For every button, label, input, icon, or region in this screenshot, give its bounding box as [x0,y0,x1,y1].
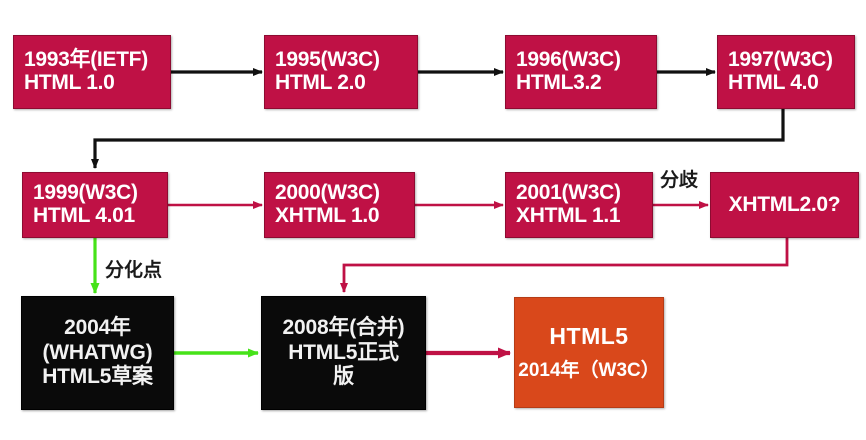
node-html-4-0[interactable]: 1997(W3C) HTML 4.0 [717,35,855,109]
node-html5-2014-subtitle: 2014年（W3C） [518,361,660,382]
label-fenqi: 分歧 [660,165,698,192]
arrow-html40-to-html401 [95,109,783,168]
node-html-4-0-line2: HTML 4.0 [728,72,819,95]
node-html-4-0-line1: 1997(W3C) [728,49,833,72]
node-xhtml-1-0-line2: XHTML 1.0 [275,205,379,228]
arrow-xhtml20-to-merge2008 [344,238,787,292]
node-xhtml-2-0[interactable]: XHTML2.0? [710,172,859,238]
node-whatwg-2004-line1: 2004年 [64,316,131,341]
node-html-2-0[interactable]: 1995(W3C) HTML 2.0 [264,35,418,109]
node-html-3-2-line1: 1996(W3C) [516,49,621,72]
node-html-1-0-line2: HTML 1.0 [24,72,115,95]
node-xhtml-1-1-line1: 2001(W3C) [516,182,621,205]
node-whatwg-2004[interactable]: 2004年 (WHATWG) HTML5草案 [21,296,174,410]
node-xhtml-1-1-line2: XHTML 1.1 [516,205,620,228]
node-xhtml-1-1[interactable]: 2001(W3C) XHTML 1.1 [505,172,653,238]
node-html5-merge-2008-line3: 版 [333,365,354,390]
node-html-1-0-line1: 1993年(IETF) [24,49,148,72]
node-html5-merge-2008-line2: HTML5正式 [288,341,399,366]
label-fenhuadian: 分化点 [105,255,162,282]
node-html-4-01-line1: 1999(W3C) [33,182,138,205]
node-html-3-2-line2: HTML3.2 [516,72,601,95]
node-xhtml-1-0[interactable]: 2000(W3C) XHTML 1.0 [264,172,415,238]
node-html5-merge-2008-line1: 2008年(合并) [283,316,405,341]
node-html-4-01-line2: HTML 4.01 [33,205,135,228]
node-html-3-2[interactable]: 1996(W3C) HTML3.2 [505,35,657,109]
node-html-2-0-line1: 1995(W3C) [275,49,380,72]
flowchart-canvas: 1993年(IETF) HTML 1.0 1995(W3C) HTML 2.0 … [0,0,866,440]
node-xhtml-1-0-line1: 2000(W3C) [275,182,380,205]
node-xhtml-2-0-line1: XHTML2.0? [729,194,841,217]
node-html5-merge-2008[interactable]: 2008年(合并) HTML5正式 版 [261,296,426,410]
node-whatwg-2004-line3: HTML5草案 [42,365,153,390]
node-html-4-01[interactable]: 1999(W3C) HTML 4.01 [22,172,168,238]
node-html-2-0-line2: HTML 2.0 [275,72,366,95]
node-html-1-0[interactable]: 1993年(IETF) HTML 1.0 [13,35,171,109]
node-whatwg-2004-line2: (WHATWG) [43,341,153,366]
node-html5-2014[interactable]: HTML5 2014年（W3C） [514,297,664,408]
node-html5-2014-title: HTML5 [549,324,628,349]
